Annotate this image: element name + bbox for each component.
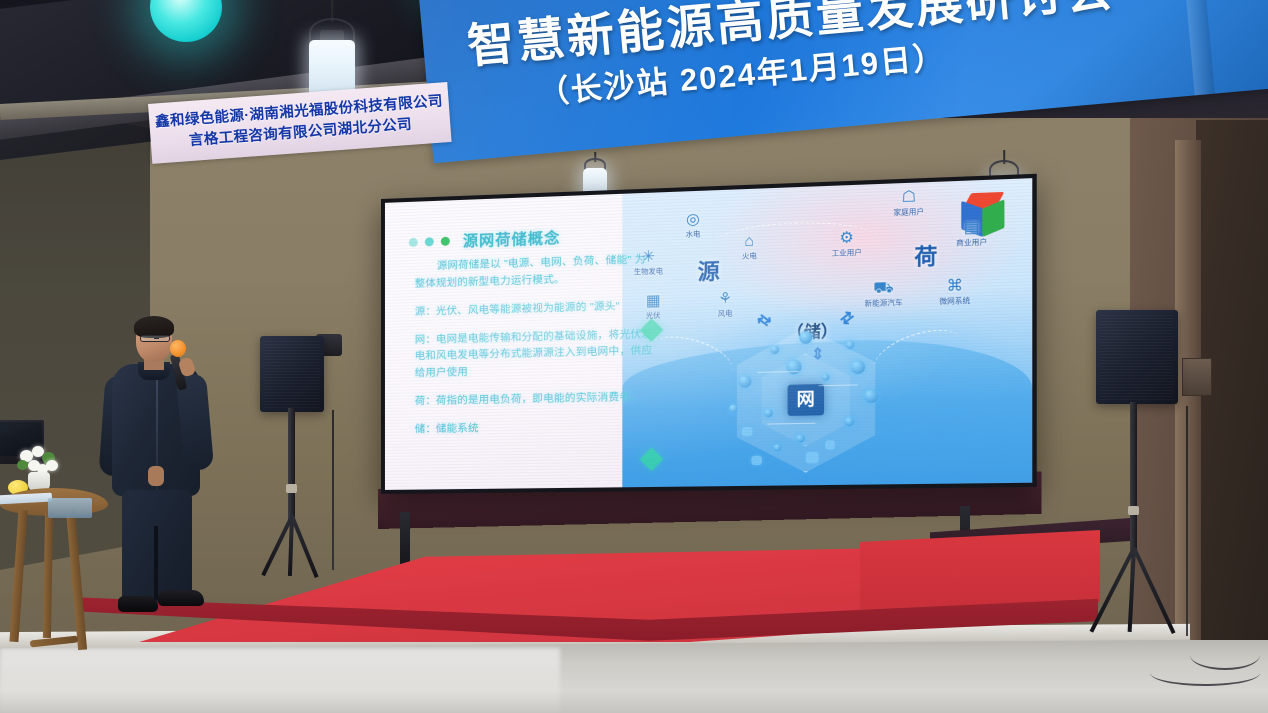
grid-center-label: 网 <box>787 384 823 416</box>
presenter-shoe-right <box>158 590 204 606</box>
diagram-node-label: 风电 <box>718 308 733 319</box>
speaker-cabinet <box>1096 310 1178 404</box>
led-screen-surface: 源网荷储概念 源网荷储是以 "电源、电网、负荷、储能" 为整体规划的新型电力运行… <box>385 178 1032 490</box>
industry-user-icon: ⚙ <box>832 230 862 247</box>
diagram-node-microgrid: ⌘ 微网系统 <box>939 277 970 306</box>
presentation-slide: 源网荷储概念 源网荷储是以 "电源、电网、负荷、储能" 为整体规划的新型电力运行… <box>385 178 1032 490</box>
photo-scene: 智慧新能源高质量发展研讨会 （长沙站 2024年1月19日） 鑫和绿色能源·湖南… <box>0 0 1268 713</box>
hex-node-icon <box>770 345 779 353</box>
side-table-leg <box>9 510 27 642</box>
slide-paragraph-3: 网：电网是电能传输和分配的基础设施，将光伏发电和风电发电等分布式能源源注入到电网… <box>415 326 655 383</box>
bullet-dot-2-icon <box>425 237 434 246</box>
presenter-left-hand <box>148 466 164 486</box>
speaker-stand-pole <box>1130 402 1137 550</box>
speaker-cable <box>1186 406 1188 636</box>
bullet-dot-3-icon <box>441 237 450 246</box>
thermal-icon: ⌂ <box>742 233 757 249</box>
solar-icon: ▦ <box>646 292 661 308</box>
slide-paragraph-5: 储：储能系统 <box>415 418 655 439</box>
diagram-node-label: 光伏 <box>646 310 661 321</box>
diagram-node-label: 新能源汽车 <box>865 297 903 309</box>
home-user-icon: ☖ <box>894 188 925 205</box>
hex-node-icon <box>846 340 855 349</box>
diagram-node-label: 水电 <box>686 229 701 240</box>
led-screen: 源网荷储概念 源网荷储是以 "电源、电网、负荷、储能" 为整体规划的新型电力运行… <box>381 174 1037 494</box>
laptop-on-floor <box>48 498 92 518</box>
hydro-icon: ◎ <box>686 212 701 228</box>
diagram-node-biomass: ✳ 生物发电 <box>634 248 663 277</box>
pa-speaker-right <box>1090 310 1230 640</box>
diagram-load-label: 荷 <box>914 239 937 271</box>
diagram-node-wind: ⚘ 风电 <box>718 290 733 318</box>
leaf-icon <box>17 460 28 470</box>
speaker-stand-clamp <box>286 484 297 493</box>
wind-icon: ⚘ <box>718 290 733 306</box>
presenter-shoe-left <box>118 596 158 612</box>
diagram-node-label: 家庭用户 <box>894 206 925 218</box>
presenter-glasses <box>140 335 170 342</box>
ev-car-icon: ⛟ <box>865 279 903 296</box>
speaker-stand-clamp <box>1128 506 1139 515</box>
slide-title: 源网荷储概念 <box>463 227 561 252</box>
slide-paragraph-2: 源：光伏、风电等能源被视为能源的 "源头" <box>415 298 655 322</box>
microphone-head-icon <box>170 340 186 357</box>
side-table-foot <box>30 636 78 648</box>
speaker-stand-pole <box>288 408 295 520</box>
diagram-node-solar: ▦ 光伏 <box>646 292 661 320</box>
diagram-node-home-user: ☖ 家庭用户 <box>894 188 925 217</box>
hex-node-icon <box>844 416 854 426</box>
diagram-source-label: 源 <box>698 255 720 287</box>
energy-diagram: 源 ◎ 水电 ✳ 生物发电 ⌂ 火电 ▦ 光伏 <box>622 178 1032 487</box>
diagram-node-label: 工业用户 <box>832 247 862 258</box>
hex-chip-icon <box>806 452 819 464</box>
slide-paragraph-4: 荷：荷指的是用电负荷，即电能的实际消费者。 <box>415 390 655 412</box>
microgrid-icon: ⌘ <box>939 277 970 294</box>
floor-cable <box>1190 640 1260 670</box>
diagram-node-commercial-user: ▤ 商业用户 <box>956 219 987 249</box>
speaker-tripod-leg <box>290 515 318 578</box>
diagram-node-industry-user: ⚙ 工业用户 <box>832 230 862 259</box>
presenter <box>96 318 224 618</box>
speaker-cable <box>332 410 334 570</box>
hex-node-icon <box>864 390 878 404</box>
biomass-icon: ✳ <box>634 248 663 264</box>
side-table-leg <box>43 512 53 638</box>
diagram-node-hydro: ◎ 水电 <box>686 212 701 240</box>
screen-support-leg-left <box>400 512 410 564</box>
diagram-node-label: 生物发电 <box>634 266 663 277</box>
diagram-node-thermal: ⌂ 火电 <box>742 233 757 261</box>
slide-body: 源网荷储是以 "电源、电网、负荷、储能" 为整体规划的新型电力运行模式。 源：光… <box>415 252 655 450</box>
diagram-node-ev-car: ⛟ 新能源汽车 <box>865 279 903 308</box>
hex-chip-icon <box>825 440 835 450</box>
diagram-node-label: 火电 <box>742 251 757 262</box>
pa-speaker-left <box>252 336 372 584</box>
side-table-leg <box>66 510 87 650</box>
hex-chip-icon <box>751 456 762 465</box>
speaker-tripod-leg <box>288 516 294 576</box>
hex-chip-icon <box>742 427 753 436</box>
hex-node-icon <box>822 373 830 380</box>
hex-node-icon <box>799 331 812 344</box>
grid-hexagon-diagram: 网 <box>726 325 887 474</box>
diagram-node-label: 商业用户 <box>956 237 987 249</box>
hex-node-icon <box>774 444 781 451</box>
presenter-leg-gap <box>154 526 158 600</box>
commercial-user-icon: ▤ <box>956 219 987 236</box>
diagram-dashed-arc-left <box>641 327 738 391</box>
diagram-node-label: 微网系统 <box>939 295 970 306</box>
speaker-tripod-leg <box>1132 547 1175 634</box>
hex-node-icon <box>729 404 737 412</box>
hex-node-icon <box>738 375 751 388</box>
bullet-dot-1-icon <box>409 238 418 247</box>
slide-paragraph-1: 源网荷储是以 "电源、电网、负荷、储能" 为整体规划的新型电力运行模式。 <box>415 252 655 294</box>
speaker-cabinet <box>260 336 324 412</box>
